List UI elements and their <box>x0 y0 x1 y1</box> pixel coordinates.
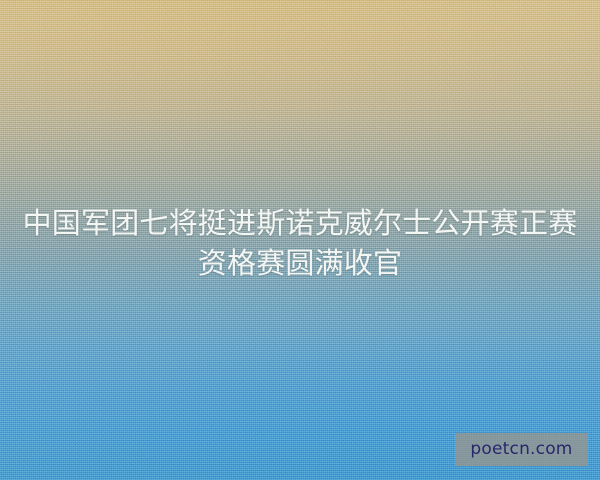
watermark-label: poetcn.com <box>470 441 572 458</box>
headline-title: 中国军团七将挺进斯诺克威尔士公开赛正赛资格赛圆满收官 <box>0 203 600 283</box>
watermark-badge: poetcn.com <box>455 433 588 466</box>
banner-canvas: 中国军团七将挺进斯诺克威尔士公开赛正赛资格赛圆满收官 poetcn.com <box>0 0 600 480</box>
